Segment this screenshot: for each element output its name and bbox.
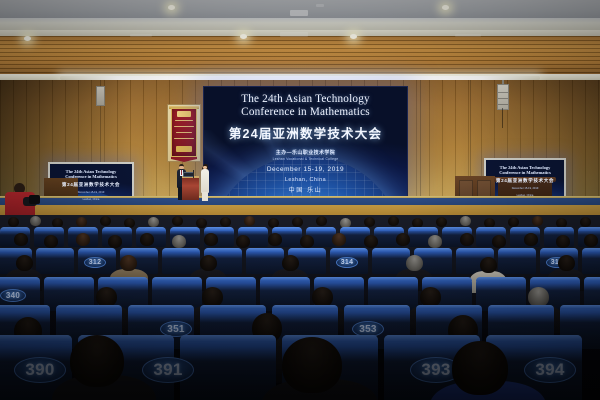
audience-head xyxy=(406,255,423,271)
seat-rim xyxy=(200,305,266,309)
audience-area: 312 314 316 xyxy=(0,215,600,400)
seat-rim xyxy=(578,227,600,231)
downlight-icon xyxy=(442,5,449,10)
side-city: Leshan, China xyxy=(486,194,564,198)
downlight-icon xyxy=(350,34,357,39)
audience-head xyxy=(580,217,591,227)
seat[interactable] xyxy=(498,248,536,274)
audience-head xyxy=(428,235,442,248)
podium xyxy=(182,176,199,200)
speaker-array-right xyxy=(497,84,509,110)
audience-head xyxy=(312,287,333,307)
side-title-chinese: 第24届亚洲数学技术大会 xyxy=(50,182,132,188)
seat-rim xyxy=(416,305,482,309)
side-date: December 15-19, 2019 xyxy=(486,187,564,191)
seat-rim xyxy=(488,305,554,309)
audience-head xyxy=(480,257,497,273)
audience-head xyxy=(30,216,41,226)
audience-head xyxy=(244,216,255,226)
conference-date: December 15-19, 2019 xyxy=(212,166,399,173)
side-city: Leshan, China xyxy=(50,198,132,202)
side-screen-text: The 24th Asian Technology Conference in … xyxy=(50,164,132,208)
audience-head xyxy=(508,217,519,227)
audience-head xyxy=(220,217,231,227)
audience-head xyxy=(120,255,137,271)
seat-rim xyxy=(56,305,122,309)
side-screen-text: The 24th Asian Technology Conference in … xyxy=(486,160,564,202)
host-organization-chinese: 主办—乐山职业技术学院 xyxy=(212,149,399,156)
seat-rim xyxy=(476,277,526,281)
seat-rim xyxy=(510,227,540,231)
audience-head xyxy=(108,235,122,248)
seat-rim xyxy=(246,248,284,252)
seat-rim xyxy=(0,227,30,231)
downlight-icon xyxy=(240,34,247,39)
seat-rim xyxy=(34,227,64,231)
audience-head xyxy=(204,233,218,246)
audience-head xyxy=(44,235,58,248)
seat-rim xyxy=(272,227,302,231)
main-projection-screen: The 24th Asian Technology Conference in … xyxy=(203,86,408,201)
conference-title-line2: Conference in Mathematics xyxy=(212,106,399,119)
downlight-icon xyxy=(168,5,175,10)
audience-head xyxy=(452,341,508,395)
audience-head xyxy=(332,233,346,246)
seat-number-badge: 390 xyxy=(14,357,66,383)
seat-rim xyxy=(0,248,32,252)
audience-head xyxy=(8,217,19,227)
audience-head xyxy=(364,217,375,227)
seat-number-badge: 340 xyxy=(0,289,26,302)
seat-rim xyxy=(36,248,74,252)
seat-rim xyxy=(476,227,506,231)
ceiling-wood-slats xyxy=(0,36,600,74)
audience-head xyxy=(364,235,378,248)
seat-rim xyxy=(530,277,580,281)
audience-head xyxy=(528,287,549,307)
audience-head xyxy=(16,255,33,271)
speaker-grille-line xyxy=(498,92,508,93)
seat-rim xyxy=(456,248,494,252)
seat-rim xyxy=(0,277,40,281)
side-date: December 15-19, 2019 xyxy=(50,191,132,195)
audience-head xyxy=(14,233,28,246)
seat-rim xyxy=(260,277,310,281)
seat[interactable] xyxy=(180,335,276,400)
seat-rim xyxy=(180,335,276,342)
seat-rim xyxy=(374,227,404,231)
audience-head xyxy=(316,216,327,226)
seat-rim xyxy=(162,248,200,252)
left-side-display: The 24th Asian Technology Conference in … xyxy=(48,162,134,210)
side-title-chinese: 第24届亚洲数学技术大会 xyxy=(486,178,564,184)
audience-head xyxy=(282,255,299,271)
audience-head xyxy=(76,233,90,246)
audience-head xyxy=(236,235,250,248)
seat-rim xyxy=(368,277,418,281)
audience-head xyxy=(172,235,186,248)
seat-rim xyxy=(102,227,132,231)
seat-rim xyxy=(330,248,368,252)
audience-head xyxy=(282,337,342,393)
audience-head xyxy=(556,235,570,248)
audience-head xyxy=(172,216,183,226)
auditorium-photo: The 24th Asian Technology Conference in … xyxy=(0,0,600,400)
seat-rim xyxy=(0,335,72,342)
audience-head xyxy=(420,287,441,307)
audience-head xyxy=(492,235,506,248)
seat-rim xyxy=(422,277,472,281)
side-title-line2: Conference in Mathematics xyxy=(50,174,132,179)
seat-rim xyxy=(340,227,370,231)
seat-rim xyxy=(314,277,364,281)
seat-rim xyxy=(136,227,166,231)
seat-rim xyxy=(272,305,338,309)
seat-rim xyxy=(306,227,336,231)
audience-head xyxy=(558,255,575,271)
audience-head xyxy=(396,233,410,246)
seat-rim xyxy=(204,227,234,231)
audience-head xyxy=(70,335,124,387)
seat-number-badge: 312 xyxy=(84,257,106,268)
seat-rim xyxy=(408,227,438,231)
seat-rim xyxy=(98,277,148,281)
seat-rim xyxy=(0,305,50,309)
seat-rim xyxy=(414,248,452,252)
conference-title-line1: The 24th Asian Technology xyxy=(212,93,399,106)
seat-rim xyxy=(238,227,268,231)
audience-head xyxy=(584,234,598,247)
audience-head xyxy=(200,255,217,271)
seat-rim xyxy=(204,248,242,252)
seat-rim xyxy=(44,277,94,281)
seat-rim xyxy=(560,305,600,309)
audience-head xyxy=(96,287,117,307)
ceiling-track xyxy=(455,34,481,37)
seat-rim xyxy=(372,248,410,252)
audience-head xyxy=(268,233,282,246)
seat[interactable] xyxy=(36,248,74,274)
seat-rim xyxy=(170,227,200,231)
seat[interactable] xyxy=(582,248,600,274)
audience-head xyxy=(300,235,314,248)
conference-city-chinese: 中国 乐山 xyxy=(212,185,399,194)
conference-city-english: Leshan, China xyxy=(212,177,399,183)
seat-rim xyxy=(152,277,202,281)
audience-head xyxy=(100,216,111,226)
speaker-grille-line xyxy=(498,104,508,105)
audience-head xyxy=(292,217,303,227)
audience-head xyxy=(524,233,538,246)
seat-number-badge: 391 xyxy=(142,357,194,383)
audience-head xyxy=(532,216,543,226)
seat-rim xyxy=(544,227,574,231)
seat-rim xyxy=(288,248,326,252)
ceiling-slab-lower xyxy=(0,18,600,30)
seat-rim xyxy=(498,248,536,252)
ceiling-vent xyxy=(290,10,308,16)
downlight-icon xyxy=(24,36,31,41)
seat-rim xyxy=(442,227,472,231)
seat-rim xyxy=(384,335,480,342)
audience-head xyxy=(148,217,159,227)
audience-head xyxy=(76,217,87,227)
audience-head xyxy=(460,233,474,246)
seat-rim xyxy=(582,248,600,252)
microphone-stand xyxy=(193,170,194,178)
seat-rim xyxy=(540,248,578,252)
speaker-grille-line xyxy=(498,98,508,99)
ceiling-track xyxy=(130,34,152,37)
seat-rim xyxy=(68,227,98,231)
audience-head xyxy=(140,233,154,246)
side-title-line2: Conference in Mathematics xyxy=(486,170,564,175)
seat-rim xyxy=(120,248,158,252)
seat-rim xyxy=(128,305,194,309)
seat-number-badge: 394 xyxy=(524,357,576,383)
seat-rim xyxy=(344,305,410,309)
seat-number-badge: 314 xyxy=(336,257,358,268)
speaker-cable xyxy=(502,108,503,128)
speaker-array-left xyxy=(96,86,105,106)
audience-head xyxy=(460,216,471,226)
seat-rim xyxy=(78,248,116,252)
audience-head xyxy=(436,217,447,227)
banner-footer-block xyxy=(176,146,192,152)
ceiling-vent xyxy=(280,32,308,37)
seat-rim xyxy=(206,277,256,281)
camera-icon xyxy=(29,195,40,204)
host-organization-english: Leshan Vocational & Technical College xyxy=(212,157,399,161)
conference-title-chinese: 第24届亚洲数学技术大会 xyxy=(212,123,399,142)
audience-head xyxy=(388,216,399,226)
audience-head xyxy=(202,287,223,307)
banner-logo xyxy=(177,111,191,117)
presenter-male-tie xyxy=(181,170,182,175)
screen-text-block: The 24th Asian Technology Conference in … xyxy=(204,93,407,194)
seat-rim xyxy=(584,277,600,281)
ceiling-fixture xyxy=(316,4,324,7)
right-side-display: The 24th Asian Technology Conference in … xyxy=(484,158,566,204)
seat-rim xyxy=(486,335,582,342)
